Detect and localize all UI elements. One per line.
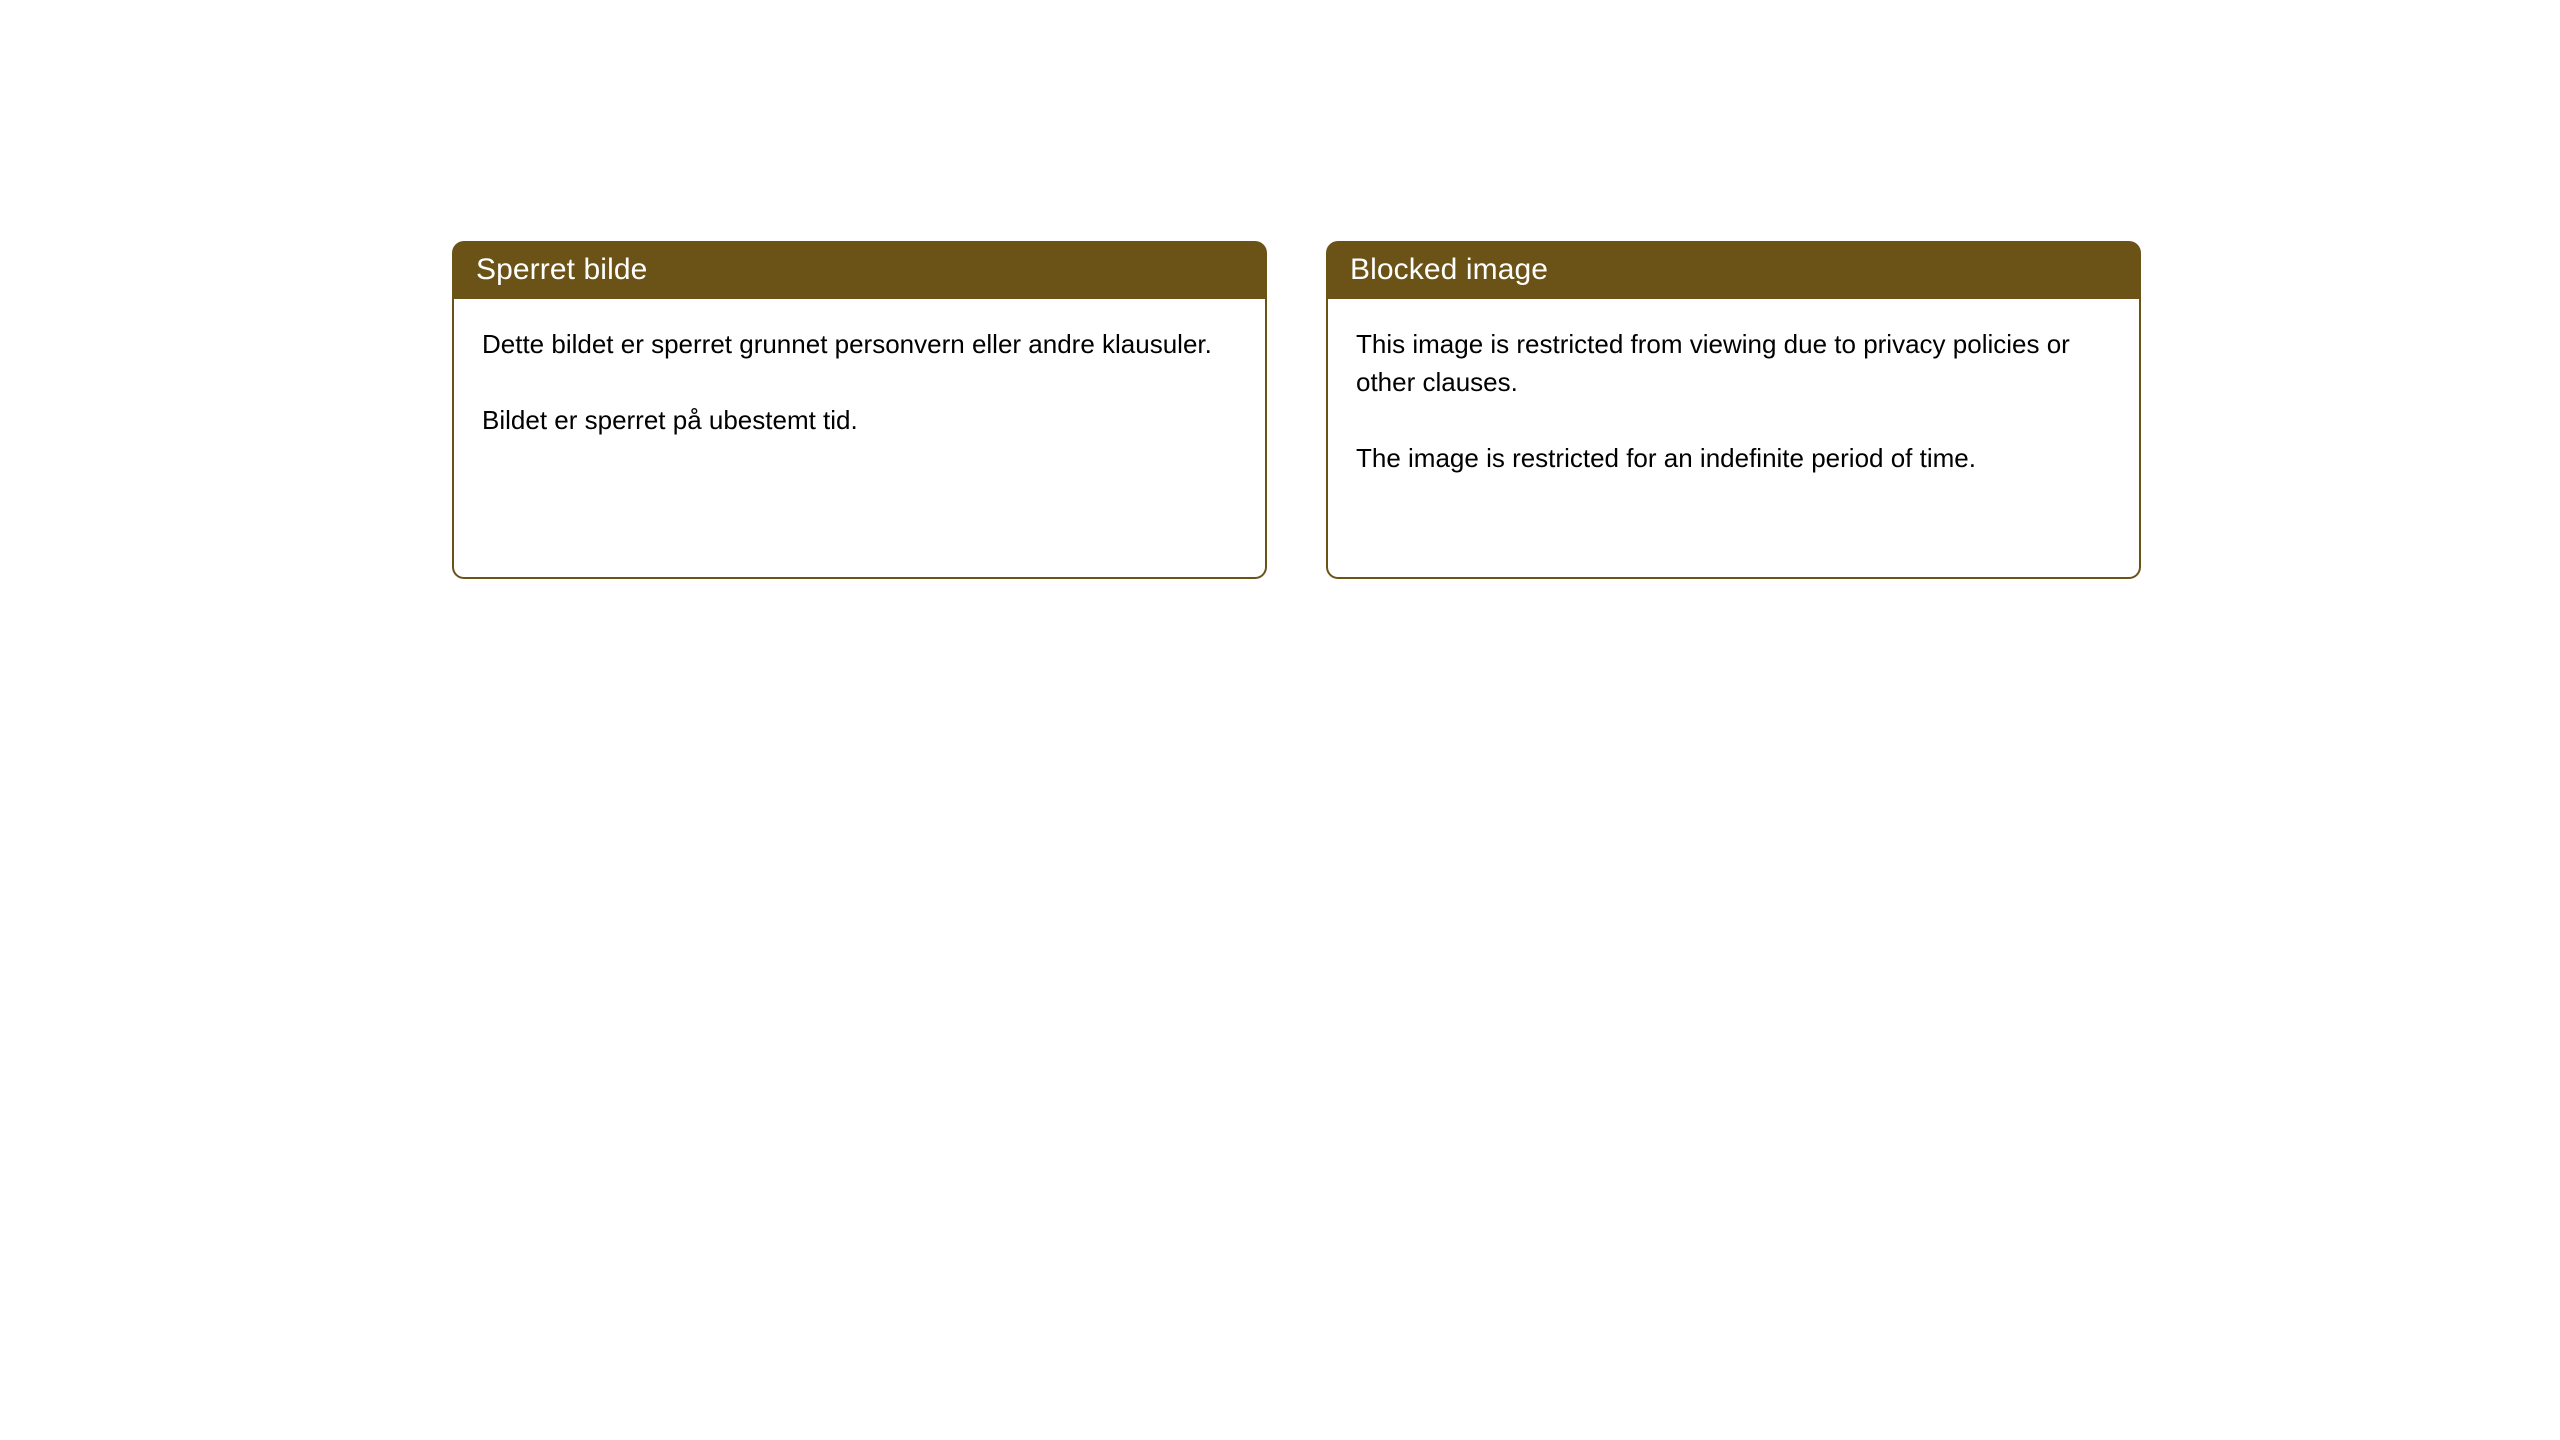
notice-paragraph: Bildet er sperret på ubestemt tid. [482, 401, 1239, 439]
notice-paragraph: Dette bildet er sperret grunnet personve… [482, 325, 1239, 363]
panel-header-english: Blocked image [1326, 241, 2141, 299]
panel-title-english: Blocked image [1350, 255, 1548, 285]
panel-body-english: This image is restricted from viewing du… [1326, 299, 2141, 579]
panel-header-norwegian: Sperret bilde [452, 241, 1267, 299]
notice-paragraph: The image is restricted for an indefinit… [1356, 439, 2113, 477]
blocked-image-notice-norwegian: Sperret bilde Dette bildet er sperret gr… [452, 241, 1267, 579]
notice-paragraph: This image is restricted from viewing du… [1356, 325, 2113, 401]
blocked-image-notice-english: Blocked image This image is restricted f… [1326, 241, 2141, 579]
panel-title-norwegian: Sperret bilde [476, 255, 647, 285]
page-canvas: Sperret bilde Dette bildet er sperret gr… [0, 0, 2560, 1440]
panel-body-norwegian: Dette bildet er sperret grunnet personve… [452, 299, 1267, 579]
